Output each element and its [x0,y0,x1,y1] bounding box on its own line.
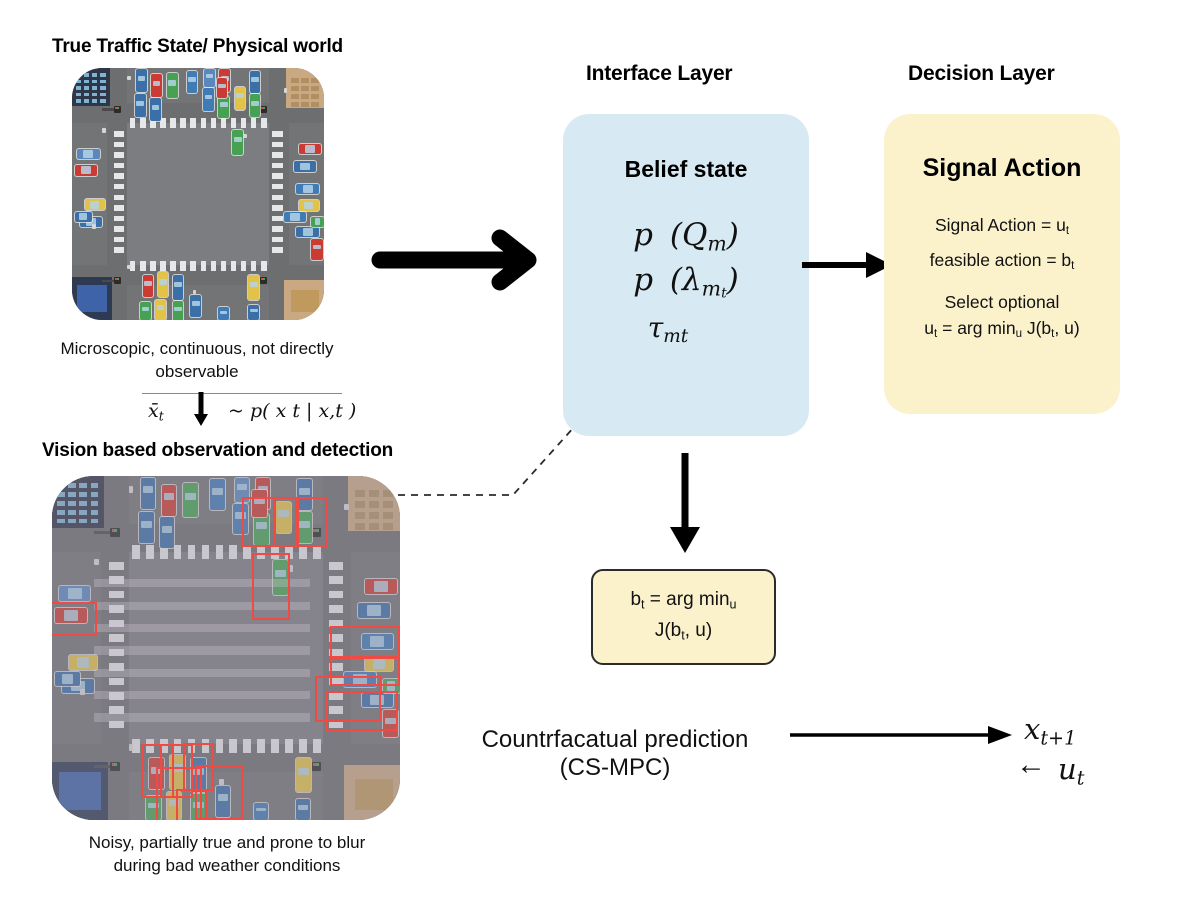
belief-formula-queue: p (Qm) [563,217,809,256]
belief-q-sub: m [707,232,726,256]
signal-action-def-text: Signal Action = u [935,215,1066,235]
signal-action-def-sub: t [1066,225,1069,237]
prediction-label-line-1: Countrfacatual prediction [450,726,780,754]
feedback-u: u [1058,752,1077,786]
feedback-arrow-icon: ← [1016,748,1046,782]
cost-argmin: = arg min [645,589,730,610]
belief-lambda-close: ) [727,262,739,298]
optimal-action-equation: ut = arg minu J(bt, u) [884,318,1120,340]
signal-action-definition: Signal Action = ut [884,215,1120,237]
select-optional-label: Select optional [884,292,1120,313]
belief-q-close: ) [727,217,739,253]
page-title-true-traffic-state: True Traffic State/ Physical world [52,36,343,58]
belief-p-2: p [633,262,653,298]
cost-j-close: , u) [685,620,712,641]
prediction-label-line-2: (CS-MPC) [450,754,780,782]
physical-note-line-2: observable [42,361,352,384]
observation-note-line-1: Noisy, partially true and prone to blur [42,832,412,855]
cost-argmin-sub: u [730,598,737,612]
cost-equation-line-1: bt = arg minu [593,589,774,612]
physical-note-line-1: Microscopic, continuous, not directly [42,338,352,361]
belief-q: (Q [670,217,708,253]
belief-tau-sub: mt [663,327,688,348]
transition-relation: ~ [228,400,244,422]
feasible-action-text: feasible action = b [930,250,1072,270]
detection-bounding-box [325,691,398,731]
cost-equation-line-2: J(bt, u) [593,620,774,643]
predicted-state-symbol: x [1024,712,1040,746]
belief-formula-lambda: p (λmt) [563,262,809,302]
transition-relation-and-rhs: ~ p( x t | x,t ) [228,400,356,422]
detection-bounding-box [252,553,290,620]
belief-lambda: (λ [670,262,702,298]
cost-b: b [630,589,641,610]
belief-state-heading: Belief state [563,156,809,183]
transition-rhs: p( x t | x,t ) [250,400,356,422]
dashed-connector-icon [395,420,595,510]
signal-action-box[interactable]: Signal Action Signal Action = ut feasibl… [884,114,1120,414]
detection-bounding-box [242,497,277,547]
detection-bounding-box [297,497,327,547]
counterfactual-prediction-label: Countrfacatual prediction (CS-MPC) [450,726,780,782]
true-traffic-state-image [72,68,324,320]
detection-bounding-box [176,789,207,820]
cost-j: J(b [655,620,681,641]
physical-world-note: Microscopic, continuous, not directly ob… [42,338,352,384]
detection-bounding-box [273,497,297,547]
feedback-control-symbol: ut [1058,752,1084,789]
detection-bounding-box [52,602,97,636]
signal-action-heading: Signal Action [884,154,1120,183]
transition-lhs: x̄ [148,400,159,422]
feasible-action-sub: t [1071,260,1074,272]
observation-note-line-2: during bad weather conditions [42,855,412,878]
interface-layer-title: Interface Layer [586,62,732,86]
belief-tau: τ [648,311,664,344]
vision-detection-image [52,476,400,820]
prediction-arrow-icon [790,720,1020,750]
cost-function-box[interactable]: bt = arg minu J(bt, u) [591,569,776,665]
decision-layer-title: Decision Layer [908,62,1055,86]
predicted-next-state: xt+1 [1024,712,1076,749]
opt-argmin: = arg min [937,318,1015,338]
opt-j-close: , u) [1054,318,1079,338]
belief-state-box[interactable]: Belief state p (Qm) p (λmt) τmt [563,114,809,436]
opt-j: J(b [1022,318,1051,338]
belief-p-1: p [633,217,653,253]
transition-lhs-sub: t [159,409,164,424]
belief-to-cost-arrow-icon [664,453,708,559]
main-flow-arrow-icon [378,230,548,290]
belief-lambda-sub-m: m [702,276,721,300]
transition-divider [142,393,342,394]
belief-formula-tau: τmt [563,311,809,347]
page-title-vision-observation: Vision based observation and detection [42,440,393,462]
opt-u: u [924,318,934,338]
detection-bounding-box [330,626,400,659]
down-arrow-icon [190,392,214,428]
feedback-u-sub: t [1077,766,1085,789]
observation-note: Noisy, partially true and prone to blur … [42,832,412,878]
feasible-action-definition: feasible action = bt [884,250,1120,272]
predicted-state-sub: t+1 [1040,726,1076,749]
transition-formula: x̄t [148,400,164,424]
